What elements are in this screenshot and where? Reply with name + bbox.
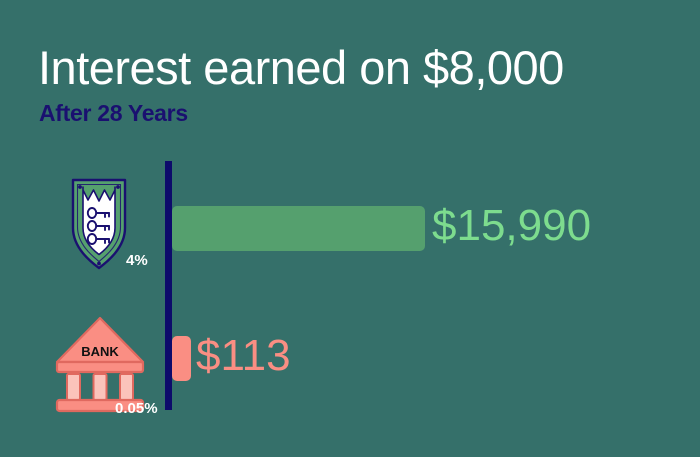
page-title: Interest earned on $8,000 bbox=[38, 40, 564, 96]
bank-word: BANK bbox=[81, 344, 119, 359]
bar-bank bbox=[172, 336, 191, 381]
page-subtitle: After 28 Years bbox=[39, 99, 188, 127]
infographic-canvas: Interest earned on $8,000 After 28 Years bbox=[0, 0, 700, 457]
bar-value-bank: $113 bbox=[196, 333, 291, 378]
shield-keys-icon bbox=[55, 170, 165, 280]
bar-high-yield bbox=[172, 206, 425, 251]
chart-row-bank: BANK bbox=[0, 310, 700, 420]
bar-value-high-yield: $15,990 bbox=[432, 203, 591, 248]
rate-label-bank: 0.05% bbox=[115, 400, 158, 417]
rate-label-high-yield: 4% bbox=[126, 252, 148, 269]
